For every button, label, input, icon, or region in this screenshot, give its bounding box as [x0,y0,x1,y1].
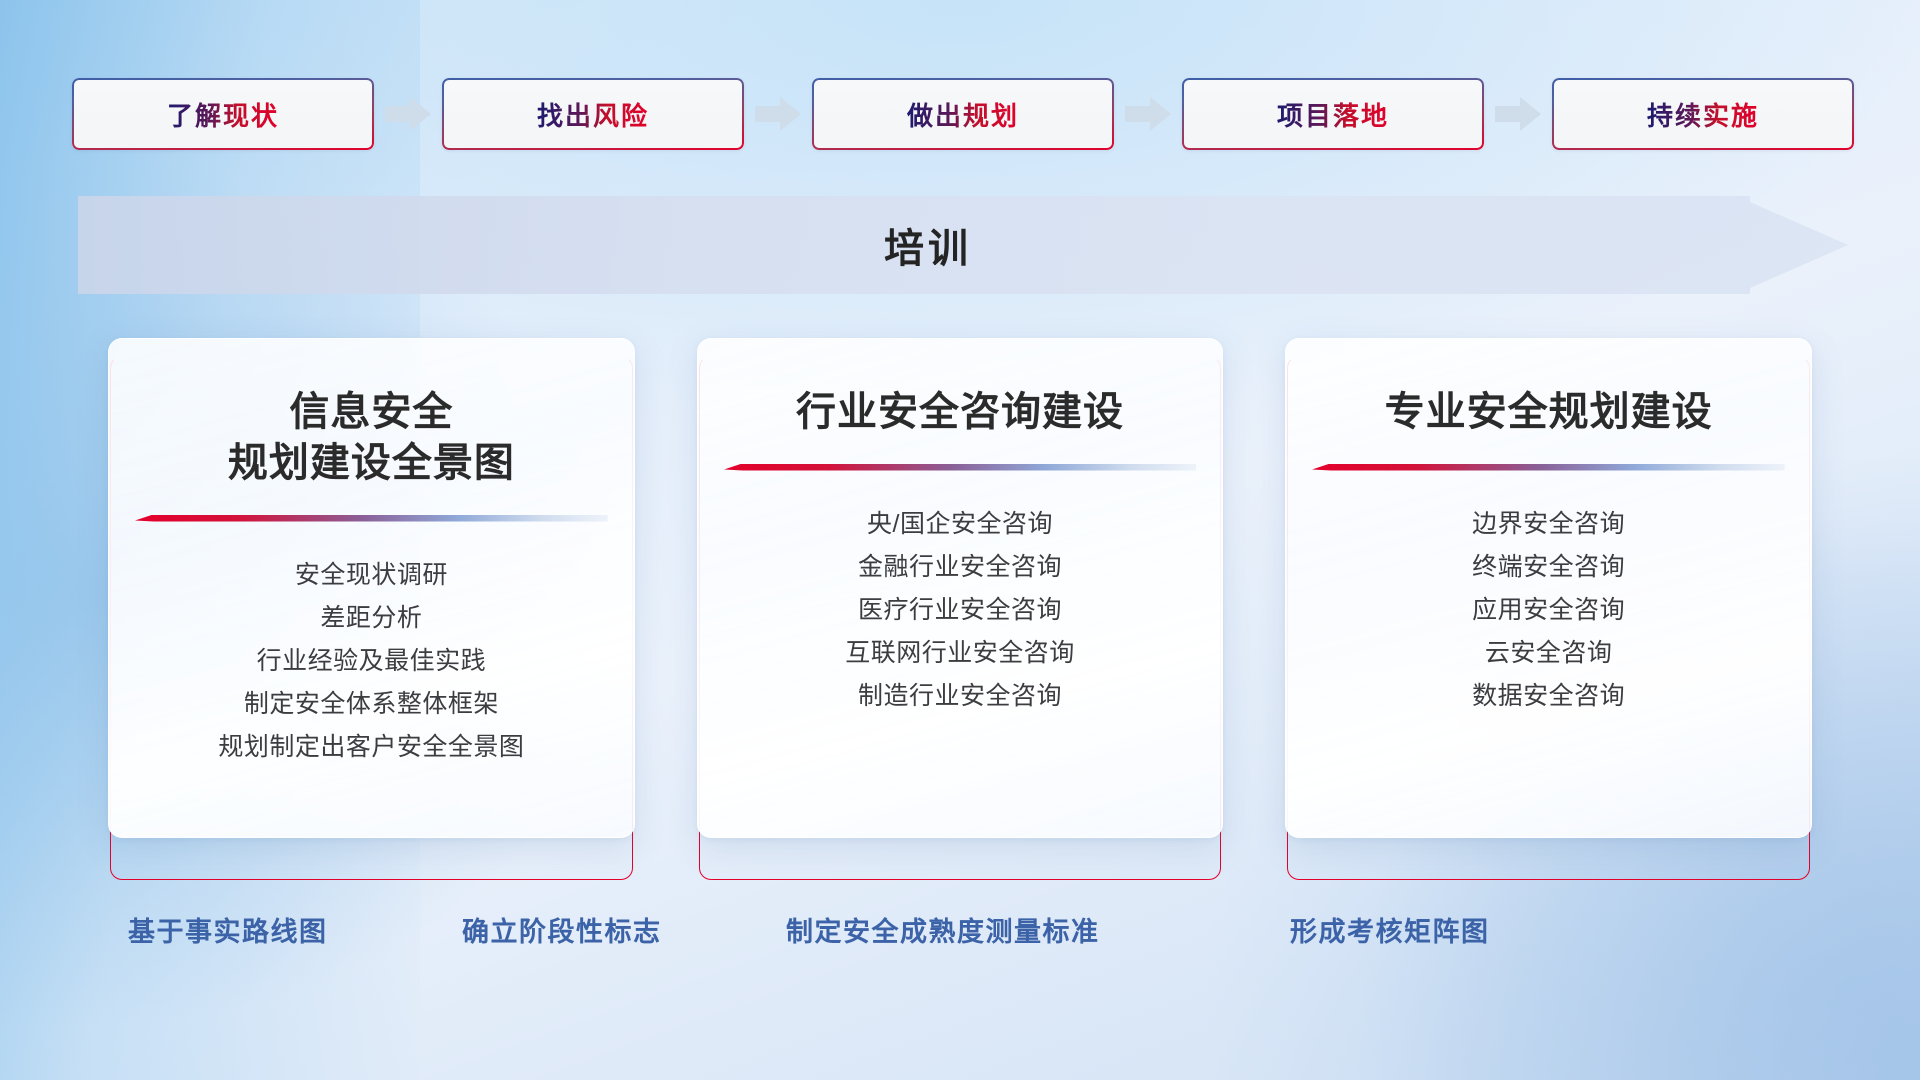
caption-row: 基于事实路线图 确立阶段性标志 制定安全成熟度测量标准 形成考核矩阵图 [0,910,1920,964]
slide-canvas: 了解现状 找出风险 做出规划 项目落地 [0,0,1920,1080]
process-arrow-icon-3 [1484,94,1552,134]
list-item: 差距分析 [135,597,608,640]
list-item: 应用安全咨询 [1312,589,1785,632]
list-item: 规划制定出客户安全全景图 [135,726,608,769]
card-item-list: 央/国企安全咨询 金融行业安全咨询 医疗行业安全咨询 互联网行业安全咨询 制造行… [724,503,1197,718]
process-step-3[interactable]: 项目落地 [1182,78,1484,150]
card-title: 行业安全咨询建设 [796,387,1124,438]
card-divider-icon [724,464,1197,475]
card-wrapper-2: 专业安全规划建设 [1285,338,1812,878]
list-item: 互联网行业安全咨询 [724,632,1197,675]
process-step-1[interactable]: 找出风险 [442,78,744,150]
list-item: 数据安全咨询 [1312,675,1785,718]
card-title: 专业安全规划建设 [1385,387,1713,438]
card-wrapper-1: 行业安全咨询建设 [697,338,1224,878]
process-step-label: 做出规划 [907,96,1019,133]
list-item: 制定安全体系整体框架 [135,683,608,726]
process-step-label: 项目落地 [1277,96,1389,133]
training-banner-label: 培训 [78,196,1778,294]
process-step-label: 找出风险 [537,96,649,133]
list-item: 行业经验及最佳实践 [135,640,608,683]
card-divider-icon [135,515,608,526]
process-step-row: 了解现状 找出风险 做出规划 项目落地 [72,78,1862,150]
caption-2: 制定安全成熟度测量标准 [786,910,1100,949]
card-divider-icon [1312,464,1785,475]
process-arrow-icon-2 [1114,94,1182,134]
list-item: 安全现状调研 [135,554,608,597]
list-item: 医疗行业安全咨询 [724,589,1197,632]
list-item: 云安全咨询 [1312,632,1785,675]
list-item: 制造行业安全咨询 [724,675,1197,718]
process-arrow-icon-1 [744,94,812,134]
process-step-label: 持续实施 [1647,96,1759,133]
card-item-list: 边界安全咨询 终端安全咨询 应用安全咨询 云安全咨询 数据安全咨询 [1312,503,1785,718]
caption-0: 基于事实路线图 [128,910,328,949]
card-2[interactable]: 专业安全规划建设 [1285,338,1812,838]
list-item: 边界安全咨询 [1312,503,1785,546]
list-item: 央/国企安全咨询 [724,503,1197,546]
process-step-0[interactable]: 了解现状 [72,78,374,150]
card-0[interactable]: 信息安全 规划建设全景图 [108,338,635,838]
process-step-2[interactable]: 做出规划 [812,78,1114,150]
card-1[interactable]: 行业安全咨询建设 [697,338,1224,838]
card-wrapper-0: 信息安全 规划建设全景图 [108,338,635,878]
card-title: 信息安全 规划建设全景图 [228,387,515,489]
training-banner: 培训 [78,196,1848,294]
list-item: 终端安全咨询 [1312,546,1785,589]
caption-3: 形成考核矩阵图 [1290,910,1490,949]
caption-1: 确立阶段性标志 [462,910,662,949]
card-item-list: 安全现状调研 差距分析 行业经验及最佳实践 制定安全体系整体框架 规划制定出客户… [135,554,608,769]
process-step-label: 了解现状 [167,96,279,133]
process-step-4[interactable]: 持续实施 [1552,78,1854,150]
card-row: 信息安全 规划建设全景图 [108,338,1812,878]
list-item: 金融行业安全咨询 [724,546,1197,589]
process-arrow-icon-0 [374,94,442,134]
